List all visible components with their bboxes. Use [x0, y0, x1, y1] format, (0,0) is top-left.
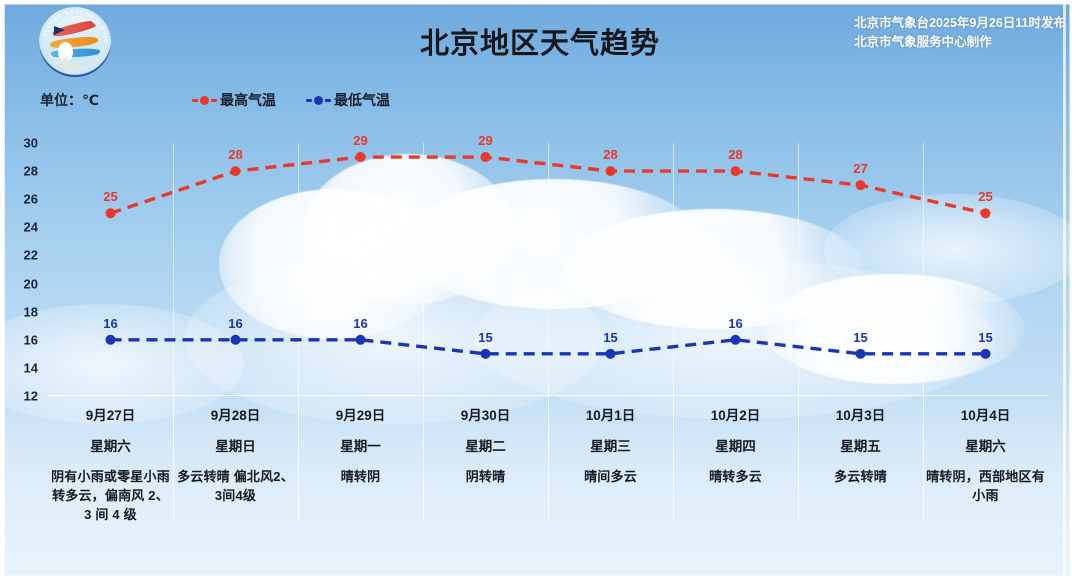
- forecast-weekday: 星期日: [215, 435, 256, 455]
- forecast-description: 多云转晴: [831, 467, 890, 486]
- data-label-high: 29: [478, 133, 492, 148]
- data-point-marker: [856, 349, 866, 359]
- forecast-column: 9月27日星期六阴有小雨或零星小雨转多云，偏南风 2、3 间 4 级: [48, 396, 173, 520]
- data-label-low: 15: [853, 330, 867, 345]
- temperature-series-lines: [48, 143, 1048, 396]
- data-label-low: 16: [228, 316, 242, 331]
- forecast-weekday: 星期六: [965, 435, 1006, 455]
- forecast-table: 9月27日星期六阴有小雨或零星小雨转多云，偏南风 2、3 间 4 级9月28日星…: [48, 396, 1048, 520]
- frame-edge-right: [1063, 4, 1066, 576]
- forecast-date: 10月4日: [961, 404, 1011, 424]
- forecast-weekday: 星期一: [340, 435, 381, 455]
- publisher-info: 北京市气象台2025年9月26日11时发布 北京市气象服务中心制作: [854, 14, 1066, 52]
- forecast-date: 10月1日: [586, 404, 636, 424]
- forecast-column: 10月3日星期五多云转晴: [798, 396, 923, 520]
- forecast-description: 多云转晴 偏北风2、3间4级: [173, 467, 298, 505]
- data-point-marker: [606, 349, 616, 359]
- forecast-weekday: 星期六: [90, 435, 131, 455]
- data-point-marker: [731, 335, 741, 345]
- forecast-date: 10月3日: [836, 404, 886, 424]
- data-point-marker: [231, 166, 241, 176]
- data-point-marker: [356, 335, 366, 345]
- legend-item-high-temp: 最高气温: [192, 90, 276, 110]
- frame-edge-left: [4, 4, 5, 576]
- data-label-high: 29: [353, 133, 367, 148]
- forecast-date: 9月29日: [336, 404, 386, 424]
- data-label-low: 15: [603, 330, 617, 345]
- forecast-weekday: 星期五: [840, 435, 881, 455]
- forecast-weekday: 星期二: [465, 435, 506, 455]
- forecast-date: 10月2日: [711, 404, 761, 424]
- data-label-high: 27: [853, 161, 867, 176]
- data-point-marker: [481, 152, 491, 162]
- data-point-marker: [481, 349, 491, 359]
- data-point-marker: [606, 166, 616, 176]
- data-point-marker: [106, 208, 116, 218]
- forecast-column: 9月30日星期二阴转晴: [423, 396, 548, 520]
- forecast-description: 晴转阴，西部地区有小雨: [923, 467, 1048, 505]
- data-label-high: 28: [728, 147, 742, 162]
- forecast-description: 晴转阴: [338, 467, 384, 486]
- forecast-column: 10月1日星期三晴间多云: [548, 396, 673, 520]
- forecast-weekday: 星期四: [715, 435, 756, 455]
- legend-marker-high-icon: [192, 96, 217, 105]
- data-label-high: 28: [228, 147, 242, 162]
- data-label-low: 16: [353, 316, 367, 331]
- forecast-description: 阴有小雨或零星小雨转多云，偏南风 2、3 间 4 级: [48, 467, 173, 524]
- legend-item-low-temp: 最低气温: [306, 90, 390, 110]
- forecast-description: 晴转多云: [706, 467, 765, 486]
- data-label-high: 25: [978, 189, 992, 204]
- publisher-line-1: 北京市气象台2025年9月26日11时发布: [854, 14, 1066, 33]
- data-point-marker: [981, 349, 991, 359]
- data-label-low: 15: [478, 330, 492, 345]
- data-point-marker: [856, 180, 866, 190]
- data-point-marker: [731, 166, 741, 176]
- forecast-weekday: 星期三: [590, 435, 631, 455]
- forecast-date: 9月27日: [86, 404, 136, 424]
- data-label-low: 15: [978, 330, 992, 345]
- forecast-column: 10月2日星期四晴转多云: [673, 396, 798, 520]
- forecast-column: 10月4日星期六晴转阴，西部地区有小雨: [923, 396, 1048, 520]
- forecast-date: 9月28日: [211, 404, 261, 424]
- data-point-marker: [106, 335, 116, 345]
- data-label-low: 16: [728, 316, 742, 331]
- data-point-marker: [231, 335, 241, 345]
- weather-trend-infographic: BEIJING METEOROLOGICAL SERVICE 气象北京 北京地区…: [0, 0, 1080, 580]
- forecast-date: 9月30日: [461, 404, 511, 424]
- forecast-description: 阴转晴: [463, 467, 509, 486]
- legend-label-high: 最高气温: [220, 90, 276, 110]
- legend-label-low: 最低气温: [334, 90, 390, 110]
- forecast-column: 9月28日星期日多云转晴 偏北风2、3间4级: [173, 396, 298, 520]
- temperature-chart-plot: 25282929282827251616161515161515: [48, 143, 1048, 396]
- data-point-marker: [356, 152, 366, 162]
- forecast-description: 晴间多云: [581, 467, 640, 486]
- forecast-column: 9月29日星期一晴转阴: [298, 396, 423, 520]
- data-label-high: 25: [103, 189, 117, 204]
- data-label-low: 16: [103, 316, 117, 331]
- legend-marker-low-icon: [306, 96, 331, 105]
- data-point-marker: [981, 208, 991, 218]
- unit-label: 单位：℃: [40, 90, 99, 110]
- publisher-line-2: 北京市气象服务中心制作: [854, 33, 1066, 52]
- data-label-high: 28: [603, 147, 617, 162]
